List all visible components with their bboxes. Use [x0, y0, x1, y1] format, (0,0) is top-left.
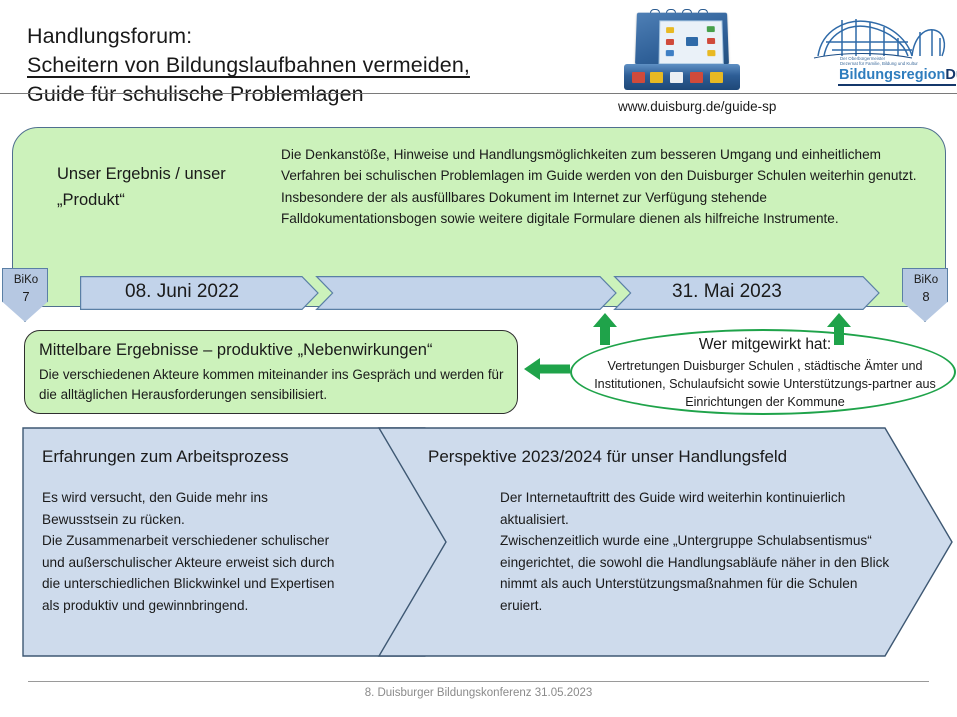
page-title: Handlungsforum: Scheitern von Bildungsla…	[27, 22, 607, 109]
chevron-1-body: Es wird versucht, den Guide mehr ins Bew…	[42, 487, 342, 617]
chevron-1-title: Erfahrungen zum Arbeitsprozess	[42, 447, 289, 467]
result-box-label: Unser Ergebnis / unser „Produkt“	[57, 161, 267, 213]
logo-word-duisburg: Duisburg	[945, 67, 957, 83]
bildungsregion-duisburg-logo: Der Oberbürgermeister Dezernat für Famil…	[812, 12, 952, 90]
participants-ellipse: Wer mitgewirkt hat: Vertretungen Duisbur…	[570, 329, 956, 415]
side-effects-box: Mittelbare Ergebnisse – produktive „Nebe…	[24, 330, 518, 414]
arrow-up-right-icon	[826, 313, 852, 345]
footer-divider	[28, 681, 929, 682]
biko-marker-8: BiKo 8	[902, 268, 948, 322]
rollercoaster-icon	[812, 12, 952, 62]
participants-body: Vertretungen Duisburger Schulen , städti…	[586, 357, 944, 411]
bottom-chevrons: Erfahrungen zum Arbeitsprozess Es wird v…	[0, 425, 957, 665]
biko-8-label: BiKo	[903, 274, 949, 286]
flipchart-logo-icon	[620, 8, 745, 98]
chevron-2-body: Der Internetauftritt des Guide wird weit…	[500, 487, 890, 617]
website-url[interactable]: www.duisburg.de/guide-sp	[618, 99, 848, 114]
arrow-left-icon	[524, 356, 570, 382]
timeline-end-date: 31. Mai 2023	[672, 281, 782, 303]
biko-7-number: 7	[3, 289, 49, 304]
slide-canvas: Handlungsforum: Scheitern von Bildungsla…	[0, 0, 957, 717]
timeline-start-date: 08. Juni 2022	[125, 281, 239, 303]
title-line-3: Guide für schulische Problemlagen	[27, 80, 607, 109]
footer-text: 8. Duisburger Bildungskonferenz 31.05.20…	[0, 687, 957, 699]
side-effects-body: Die verschiedenen Akteure kommen miteina…	[39, 365, 509, 405]
logo-dept-line2: Dezernat für Familie, Bildung und Kultur	[840, 61, 952, 66]
logo-department-text: Der Oberbürgermeister Dezernat für Famil…	[840, 56, 952, 67]
biko-8-number: 8	[903, 289, 949, 304]
side-effects-title: Mittelbare Ergebnisse – produktive „Nebe…	[39, 339, 509, 361]
biko-marker-7: BiKo 7	[2, 268, 48, 322]
participants-title: Wer mitgewirkt hat:	[572, 336, 957, 354]
title-line-2: Scheitern von Bildungslaufbahnen vermeid…	[27, 51, 607, 80]
result-box-body: Die Denkanstöße, Hinweise und Handlungsm…	[281, 144, 921, 230]
arrow-up-left-icon	[592, 313, 618, 345]
timeline-bar: 08. Juni 2022 31. Mai 2023	[80, 276, 880, 310]
logo-word-bildungsregion: Bildungsregion	[839, 67, 945, 83]
logo-wordmark: BildungsregionDuisburg	[839, 67, 955, 83]
header-divider	[0, 93, 957, 94]
chevron-2-title: Perspektive 2023/2024 für unser Handlung…	[428, 447, 787, 467]
biko-7-label: BiKo	[3, 274, 49, 286]
logo-underline	[838, 84, 956, 86]
title-line-1: Handlungsforum:	[27, 22, 607, 51]
